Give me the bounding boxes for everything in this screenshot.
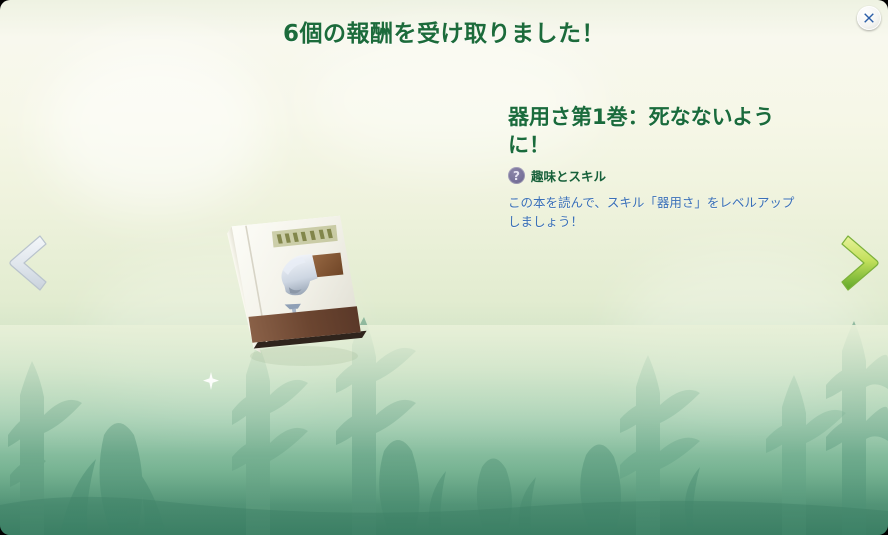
chevron-left-icon [4,228,52,298]
reward-item-description: この本を読んで、スキル「器用さ」をレベルアップしましょう！ [508,194,796,230]
question-mark-glyph: ? [513,170,520,182]
reward-item-info: 器用さ第1巻：死なないように！ ? 趣味とスキル この本を読んで、スキル「器用さ… [508,104,796,231]
reward-dialog: 6個の報酬を受け取りました！ [0,0,888,535]
close-icon [862,11,876,25]
sparkle-icon [203,372,219,390]
page-title: 6個の報酬を受け取りました！ [0,14,888,48]
background-blob [40,40,270,210]
chevron-right-icon [836,228,884,298]
previous-reward-button[interactable] [4,228,52,298]
reward-item-image [222,196,382,368]
foliage-decoration [0,315,888,535]
close-button[interactable] [857,6,881,30]
reward-item-title: 器用さ第1巻：死なないように！ [508,104,796,159]
reward-item-category: ? 趣味とスキル [508,166,796,185]
question-mark-icon[interactable]: ? [508,167,525,184]
mist-overlay [0,325,888,535]
next-reward-button[interactable] [836,228,884,298]
category-label: 趣味とスキル [531,166,606,185]
background-blob [620,250,870,410]
